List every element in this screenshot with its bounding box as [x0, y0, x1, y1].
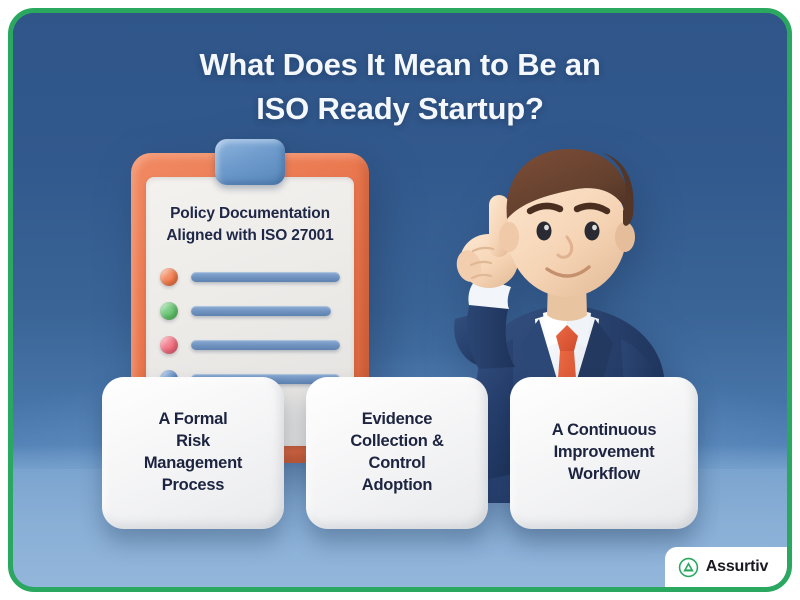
card-label: A FormalRiskManagementProcess	[144, 409, 242, 497]
card-label-line: Collection &	[350, 431, 443, 453]
card-label-line: Risk	[144, 431, 242, 453]
checklist-bar-1	[191, 272, 340, 282]
checklist-row	[160, 331, 340, 359]
page-title-line1: What Does It Mean to Be an	[199, 47, 600, 82]
pillar-cards-row: A FormalRiskManagementProcessEvidenceCol…	[13, 377, 787, 529]
card-label: A ContinuousImprovementWorkflow	[552, 420, 657, 486]
brand-logo-badge: Assurtiv	[665, 547, 787, 587]
card-label-line: Workflow	[552, 464, 657, 486]
card-label-line: Adoption	[350, 475, 443, 497]
card-label-line: Management	[144, 453, 242, 475]
card-continuous-improvement: A ContinuousImprovementWorkflow	[510, 377, 698, 529]
checklist-row	[160, 297, 340, 325]
card-label-line: Control	[350, 453, 443, 475]
card-label-line: Improvement	[552, 442, 657, 464]
page-title-line2: ISO Ready Startup?	[13, 87, 787, 131]
clipboard-heading-line2: Aligned with ISO 27001	[160, 225, 340, 247]
card-label-line: A Formal	[144, 409, 242, 431]
clipboard-checklist	[160, 263, 340, 393]
clipboard-clip	[215, 139, 285, 185]
card-label: EvidenceCollection &ControlAdoption	[350, 409, 443, 497]
clipboard-heading: Policy Documentation Aligned with ISO 27…	[160, 203, 340, 246]
checklist-bar-3	[191, 340, 340, 350]
infographic-image: What Does It Mean to Be an ISO Ready Sta…	[0, 0, 800, 600]
checklist-row	[160, 263, 340, 291]
card-label-line: A Continuous	[552, 420, 657, 442]
mountain-triangle-in-circle-icon	[678, 557, 699, 578]
clipboard-heading-line1: Policy Documentation	[160, 203, 340, 225]
card-risk-management: A FormalRiskManagementProcess	[102, 377, 284, 529]
card-label-line: Process	[144, 475, 242, 497]
card-label-line: Evidence	[350, 409, 443, 431]
page-title: What Does It Mean to Be an ISO Ready Sta…	[13, 43, 787, 131]
card-evidence-collection: EvidenceCollection &ControlAdoption	[306, 377, 488, 529]
brand-logo-text: Assurtiv	[706, 558, 768, 576]
green-border-frame: What Does It Mean to Be an ISO Ready Sta…	[8, 8, 792, 592]
checklist-dot-3	[160, 336, 178, 354]
checklist-dot-2	[160, 302, 178, 320]
checklist-bar-2	[191, 306, 331, 316]
checklist-dot-1	[160, 268, 178, 286]
